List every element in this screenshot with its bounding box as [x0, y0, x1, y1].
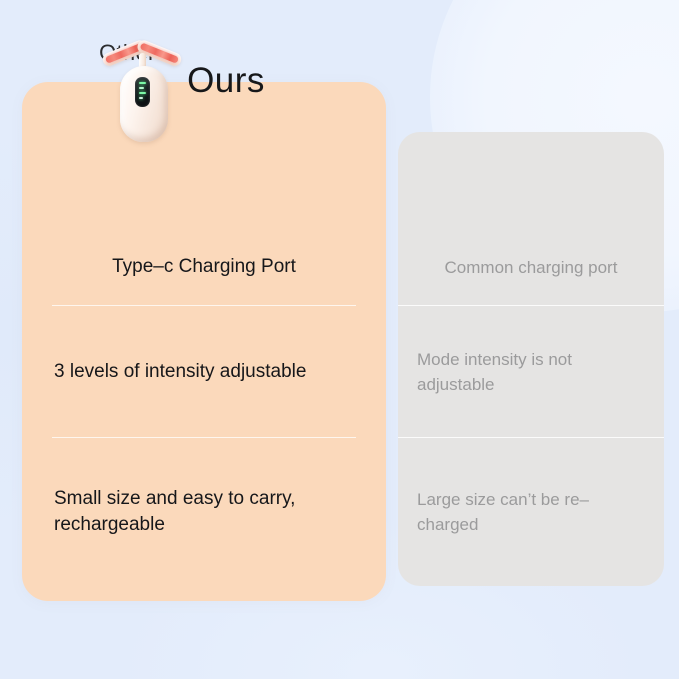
others-feature-row-2: Mode intensity is not adjustable [398, 306, 664, 438]
ours-feature-row-2: 3 levels of intensity adjustable [22, 306, 386, 438]
ours-card-title: Ours [187, 63, 265, 98]
ours-feature-row-3: Small size and easy to carry, rechargeab… [22, 438, 386, 586]
comparison-infographic: Others Ours Type–c Charging Port Common … [0, 0, 679, 679]
beauty-device-icon [99, 20, 185, 144]
ours-feature-row-1: Type–c Charging Port [22, 228, 386, 306]
others-feature-row-3: Large size can’t be re–charged [398, 438, 664, 586]
others-feature-row-1: Common charging port [398, 228, 664, 306]
device-display-icon [135, 77, 150, 107]
ours-card-header: Ours [0, 12, 364, 152]
